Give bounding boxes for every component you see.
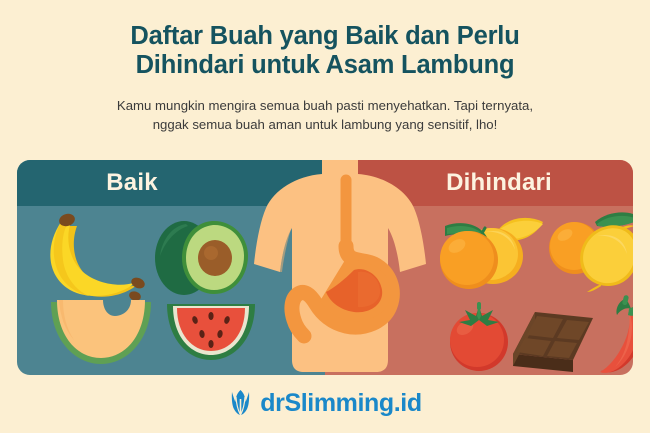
orange-lemon-pair-2-icon (547, 208, 633, 294)
page-subtitle: Kamu mungkin mengira semua buah pasti me… (0, 96, 650, 134)
chili-pepper-icon (595, 295, 633, 375)
avocado-icon (152, 216, 260, 298)
comparison-panel: Baik Dihindari (17, 160, 633, 375)
brand-logo[interactable]: drSlimming.id (0, 386, 650, 420)
infographic-root: Daftar Buah yang Baik dan Perlu Dihindar… (0, 0, 650, 433)
watermelon-slice-icon (165, 300, 257, 362)
human-torso-stomach-illustration (250, 160, 430, 375)
subtitle-line-2: nggak semua buah aman untuk lambung yang… (0, 115, 650, 134)
page-title: Daftar Buah yang Baik dan Perlu Dihindar… (0, 22, 650, 80)
orange-lemon-pair-icon (435, 210, 549, 294)
title-line-1: Daftar Buah yang Baik dan Perlu (0, 22, 650, 51)
logo-text: drSlimming.id (260, 389, 421, 418)
tulip-icon (228, 389, 253, 417)
cantaloupe-slice-icon (47, 300, 157, 368)
chocolate-bar-icon (507, 310, 599, 375)
title-line-2: Dihindari untuk Asam Lambung (0, 51, 650, 80)
bananas-icon (39, 212, 149, 304)
subtitle-line-1: Kamu mungkin mengira semua buah pasti me… (0, 96, 650, 115)
